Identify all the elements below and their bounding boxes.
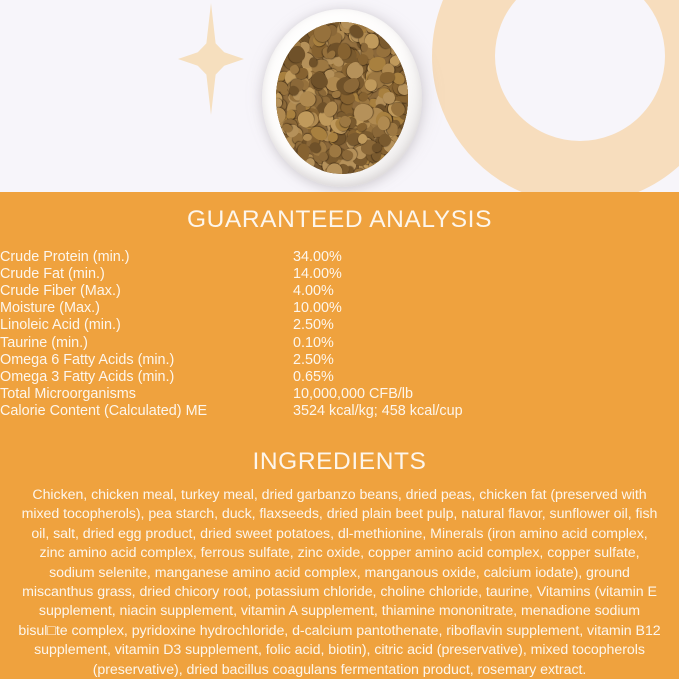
nutrient-value: 10,000,000 CFB/lb [293,386,543,403]
nutrient-label: Crude Fiber (Max.) [0,283,293,300]
guaranteed-analysis-row: Total Microorganisms10,000,000 CFB/lb [0,386,543,403]
guaranteed-analysis-row: Omega 6 Fatty Acids (min.)2.50% [0,352,543,369]
nutrient-value: 34.00% [293,249,543,266]
nutrient-label: Moisture (Max.) [0,300,293,317]
guaranteed-analysis-row: Moisture (Max.)10.00% [0,300,543,317]
nutrient-value: 0.10% [293,335,543,352]
ring-decoration-shape [432,0,679,192]
guaranteed-analysis-row: Crude Protein (min.)34.00% [0,249,543,266]
guaranteed-analysis-row: Linoleic Acid (min.)2.50% [0,317,543,334]
nutrient-label: Total Microorganisms [0,386,293,403]
guaranteed-analysis-title: GUARANTEED ANALYSIS [0,208,679,233]
nutrition-panel: GUARANTEED ANALYSIS Crude Protein (min.)… [0,192,679,679]
nutrient-value: 0.65% [293,369,543,386]
guaranteed-analysis-row: Crude Fiber (Max.)4.00% [0,283,543,300]
kibble-bowl-photo [262,9,422,187]
kibble-fill [276,22,408,174]
nutrient-value: 3524 kcal/kg; 458 kcal/cup [293,403,543,420]
nutrient-value: 2.50% [293,352,543,369]
nutrient-label: Crude Protein (min.) [0,249,293,266]
nutrient-label: Omega 3 Fatty Acids (min.) [0,369,293,386]
ingredients-paragraph: Chicken, chicken meal, turkey meal, drie… [18,486,661,679]
nutrient-label: Taurine (min.) [0,335,293,352]
guaranteed-analysis-row: Omega 3 Fatty Acids (min.)0.65% [0,369,543,386]
nutrient-value: 4.00% [293,283,543,300]
guaranteed-analysis-table: Crude Protein (min.)34.00%Crude Fat (min… [0,249,543,421]
ingredients-title: INGREDIENTS [0,450,679,475]
hero-image-area [0,0,679,192]
guaranteed-analysis-body: Crude Protein (min.)34.00%Crude Fat (min… [0,249,543,421]
nutrient-value: 10.00% [293,300,543,317]
guaranteed-analysis-row: Calorie Content (Calculated) ME3524 kcal… [0,403,543,420]
nutrient-value: 2.50% [293,317,543,334]
sparkle-icon [178,3,244,115]
guaranteed-analysis-row: Crude Fat (min.)14.00% [0,266,543,283]
nutrient-value: 14.00% [293,266,543,283]
guaranteed-analysis-row: Taurine (min.)0.10% [0,335,543,352]
nutrient-label: Linoleic Acid (min.) [0,317,293,334]
nutrient-label: Omega 6 Fatty Acids (min.) [0,352,293,369]
nutrient-label: Calorie Content (Calculated) ME [0,403,293,420]
product-label-page: GUARANTEED ANALYSIS Crude Protein (min.)… [0,0,679,679]
nutrient-label: Crude Fat (min.) [0,266,293,283]
